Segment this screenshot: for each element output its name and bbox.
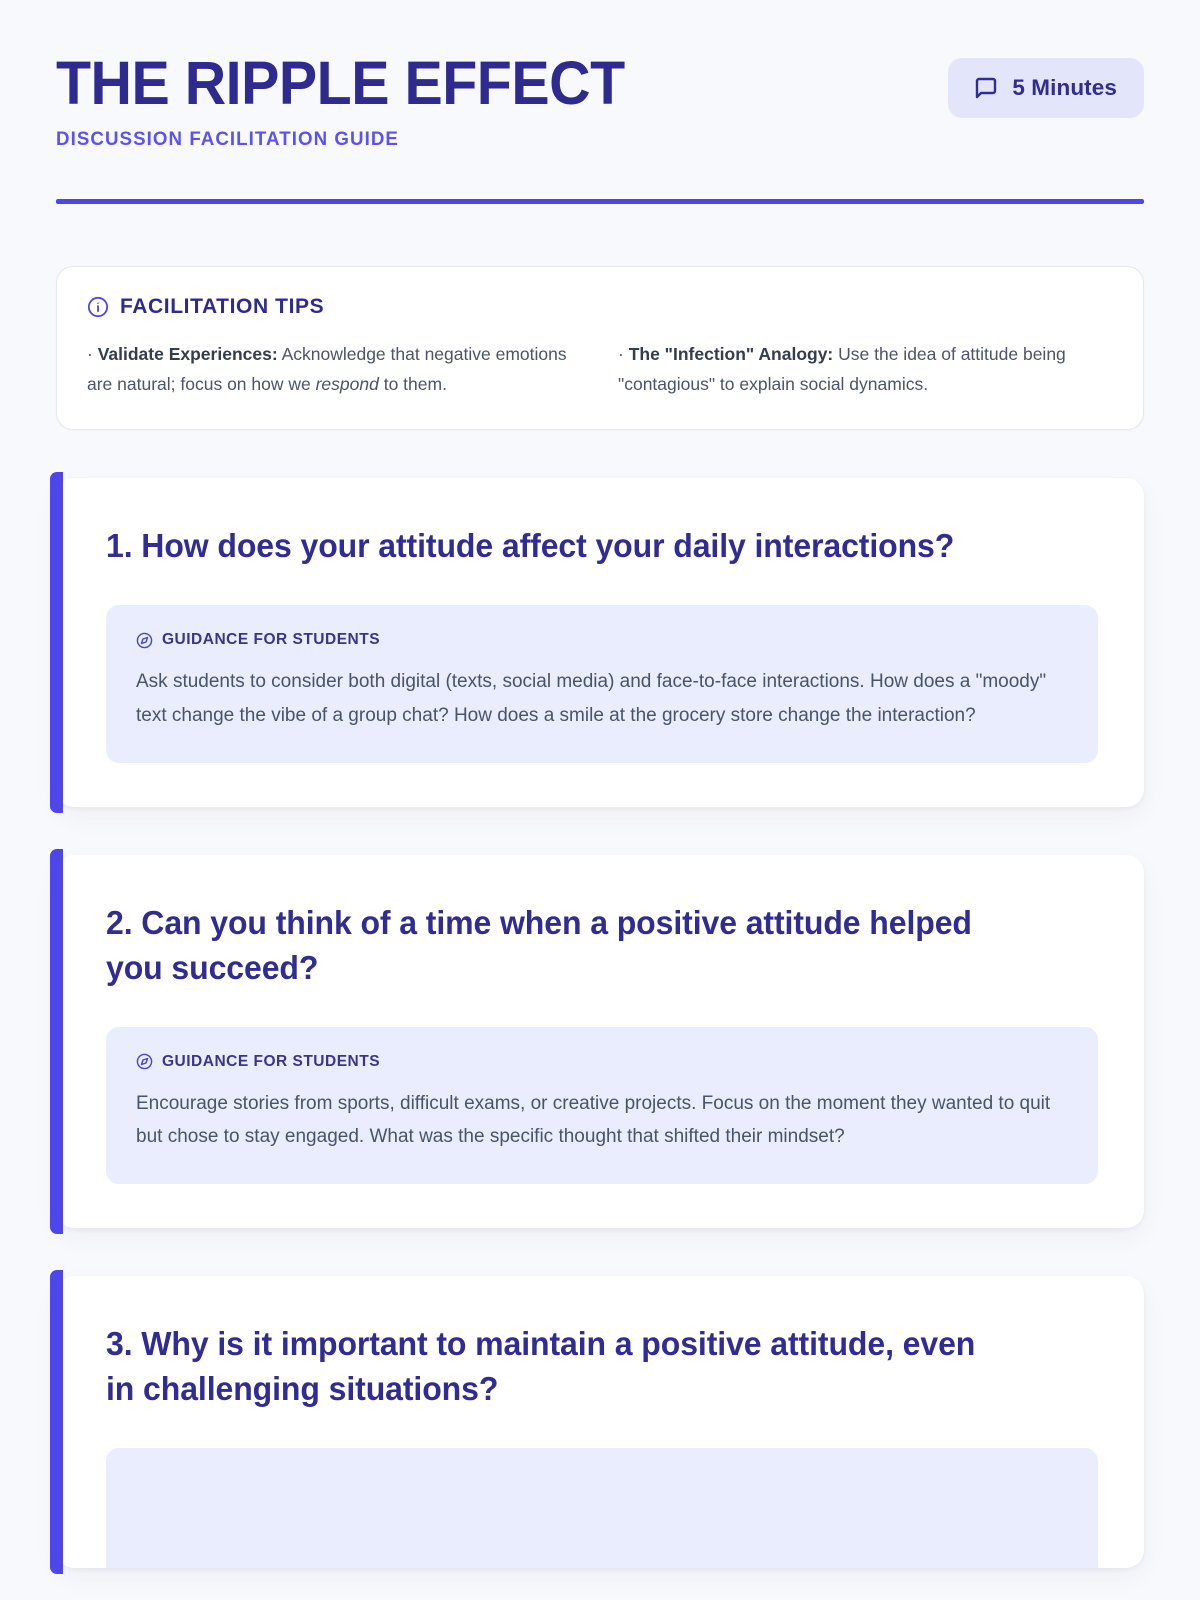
question-card: 2. Can you think of a time when a positi… [56,855,1144,1228]
duration-badge[interactable]: 5 Minutes [948,58,1144,118]
guidance-label: GUIDANCE FOR STUDENTS [162,631,380,649]
facilitation-tips-card: FACILITATION TIPS · Validate Experiences… [56,266,1144,430]
guidance-box [106,1448,1098,1568]
facilitation-tip-item: · Validate Experiences: Acknowledge that… [87,339,582,399]
message-square-icon [973,75,999,101]
facilitation-tip-item: · The "Infection" Analogy: Use the idea … [618,339,1113,399]
duration-badge-label: 5 Minutes [1012,75,1117,101]
question-card: 1. How does your attitude affect your da… [56,478,1144,807]
question-title: 1. How does your attitude affect your da… [106,524,1008,569]
guidance-text: Encourage stories from sports, difficult… [136,1087,1068,1155]
tip-text-after: to them. [379,374,447,394]
guidance-box: GUIDANCE FOR STUDENTS Encourage stories … [106,1027,1098,1185]
facilitation-tips-header: FACILITATION TIPS [87,295,1113,319]
guidance-header: GUIDANCE FOR STUDENTS [136,631,1068,649]
facilitation-guide-page: THE RIPPLE EFFECT DISCUSSION FACILITATIO… [0,0,1200,1600]
question-title: 2. Can you think of a time when a positi… [106,901,1008,991]
page-title: THE RIPPLE EFFECT [56,52,895,114]
facilitation-tips-list: · Validate Experiences: Acknowledge that… [87,339,1113,399]
tip-emphasis: respond [316,374,379,394]
guidance-label: GUIDANCE FOR STUDENTS [162,1053,380,1071]
facilitation-tips-title: FACILITATION TIPS [120,295,324,319]
header-title-group: THE RIPPLE EFFECT DISCUSSION FACILITATIO… [56,52,948,151]
header-divider [56,199,1144,204]
page-subtitle: DISCUSSION FACILITATION GUIDE [56,128,913,151]
page-header: THE RIPPLE EFFECT DISCUSSION FACILITATIO… [56,44,1144,151]
guidance-header: GUIDANCE FOR STUDENTS [136,1053,1068,1071]
question-title: 3. Why is it important to maintain a pos… [106,1322,1008,1412]
tip-lead: Validate Experiences: [98,344,278,364]
tip-lead: The "Infection" Analogy: [629,344,834,364]
guidance-box: GUIDANCE FOR STUDENTS Ask students to co… [106,605,1098,763]
compass-icon [136,1053,153,1070]
tip-bullet: · [87,344,93,364]
compass-icon [136,632,153,649]
guidance-text: Ask students to consider both digital (t… [136,665,1068,733]
tip-bullet: · [618,344,624,364]
question-card: 3. Why is it important to maintain a pos… [56,1276,1144,1568]
info-circle-icon [87,296,109,318]
